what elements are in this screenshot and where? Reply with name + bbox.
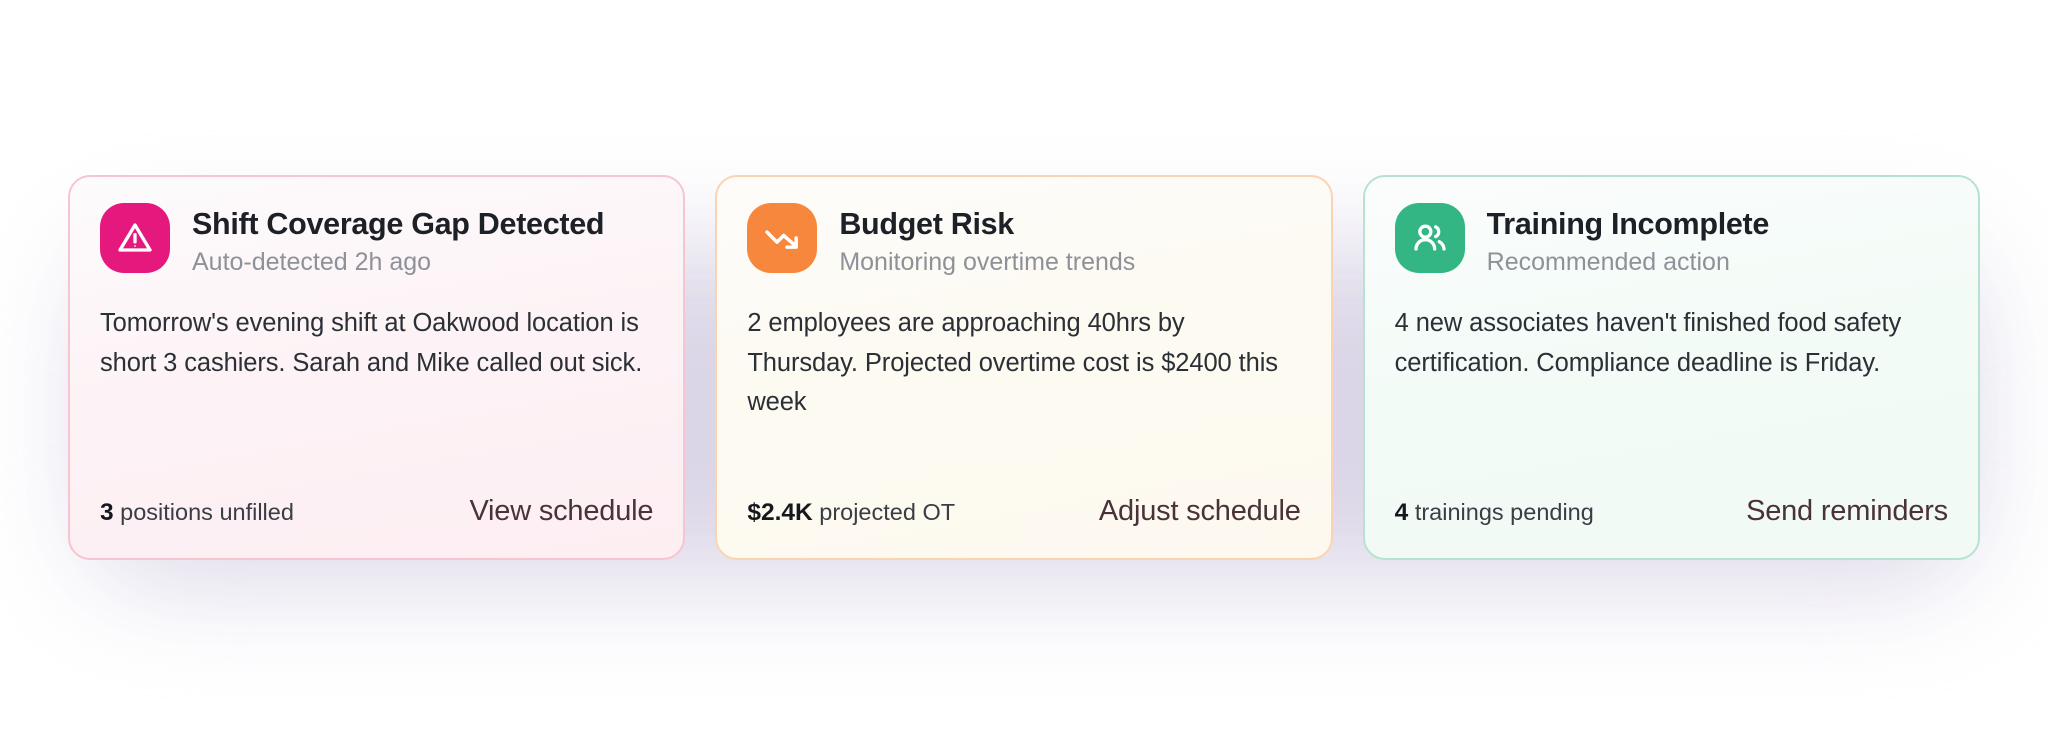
card-title: Training Incomplete (1487, 207, 1769, 241)
card-footer: $2.4K projected OT Adjust schedule (747, 495, 1300, 528)
trending-down-icon (747, 203, 817, 273)
card-subtitle: Monitoring overtime trends (839, 248, 1135, 277)
card-training-incomplete[interactable]: Training Incomplete Recommended action 4… (1363, 175, 1980, 560)
users-icon (1395, 203, 1465, 273)
card-body-text: 4 new associates haven't finished food s… (1395, 304, 1948, 384)
alert-cards-row: Shift Coverage Gap Detected Auto-detecte… (0, 0, 2048, 732)
card-subtitle: Recommended action (1487, 248, 1769, 277)
metric-label: projected OT (819, 499, 955, 525)
card-header-text: Training Incomplete Recommended action (1487, 203, 1769, 277)
metric-value: 3 (100, 499, 114, 526)
metric-label: trainings pending (1415, 499, 1594, 525)
card-header-text: Shift Coverage Gap Detected Auto-detecte… (192, 203, 604, 277)
adjust-schedule-button[interactable]: Adjust schedule (1099, 495, 1301, 528)
card-title: Shift Coverage Gap Detected (192, 207, 604, 241)
card-title: Budget Risk (839, 207, 1135, 241)
card-header: Shift Coverage Gap Detected Auto-detecte… (100, 203, 653, 277)
card-subtitle: Auto-detected 2h ago (192, 248, 604, 277)
alert-cards-screen: Shift Coverage Gap Detected Auto-detecte… (0, 0, 2048, 732)
card-footer: 3 positions unfilled View schedule (100, 495, 653, 528)
card-header: Training Incomplete Recommended action (1395, 203, 1948, 277)
metric: 3 positions unfilled (100, 499, 294, 527)
card-budget-risk[interactable]: Budget Risk Monitoring overtime trends 2… (715, 175, 1332, 560)
card-body-text: Tomorrow's evening shift at Oakwood loca… (100, 304, 653, 384)
card-header: Budget Risk Monitoring overtime trends (747, 203, 1300, 277)
send-reminders-button[interactable]: Send reminders (1746, 495, 1948, 528)
view-schedule-button[interactable]: View schedule (469, 495, 653, 528)
metric-value: 4 (1395, 499, 1409, 526)
metric: 4 trainings pending (1395, 499, 1594, 527)
card-header-text: Budget Risk Monitoring overtime trends (839, 203, 1135, 277)
card-body-text: 2 employees are approaching 40hrs by Thu… (747, 304, 1300, 423)
alert-triangle-icon (100, 203, 170, 273)
metric-label: positions unfilled (120, 499, 294, 525)
metric-value: $2.4K (747, 499, 812, 526)
card-footer: 4 trainings pending Send reminders (1395, 495, 1948, 528)
metric: $2.4K projected OT (747, 499, 955, 527)
card-shift-coverage-gap[interactable]: Shift Coverage Gap Detected Auto-detecte… (68, 175, 685, 560)
